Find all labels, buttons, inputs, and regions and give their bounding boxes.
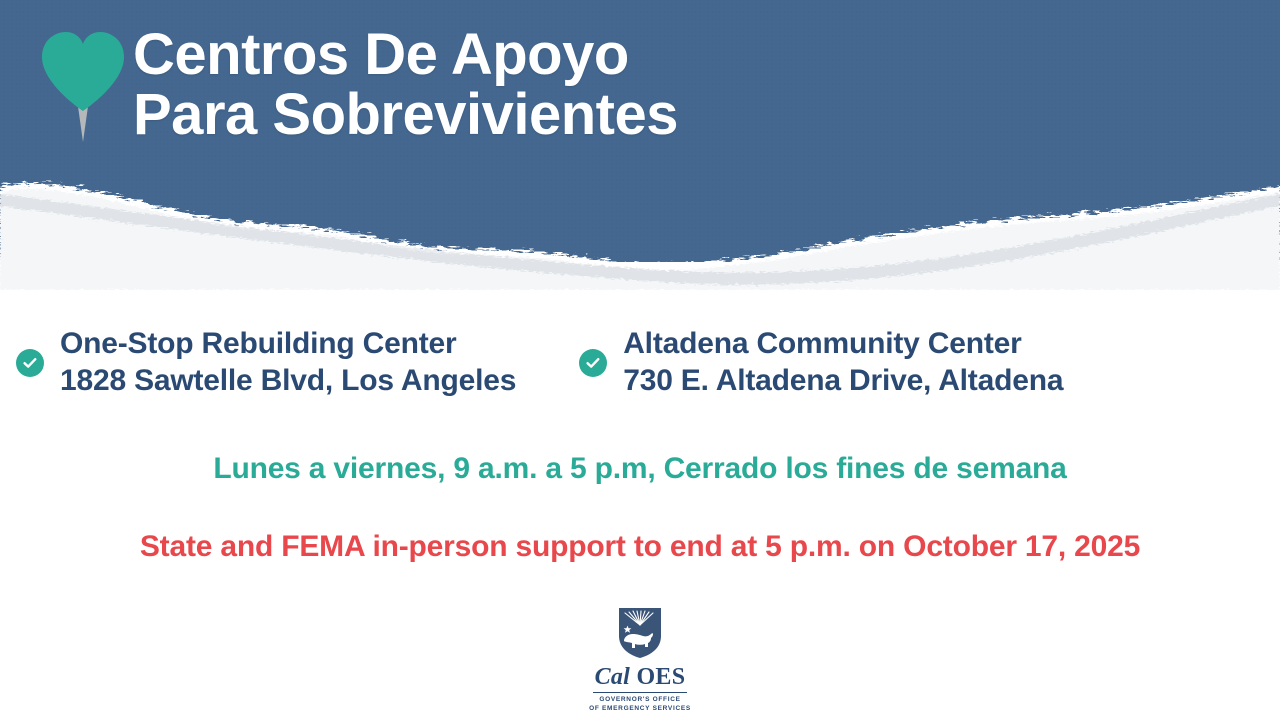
hours-text: Lunes a viernes, 9 a.m. a 5 p.m, Cerrado… [0,452,1280,486]
end-of-service-notice: State and FEMA in-person support to end … [0,530,1280,564]
subtitle-line-2: OF EMERGENCY SERVICES [589,705,691,714]
title-line-2: Para Sobrevivientes [133,85,678,145]
subtitle-line-1: GOVERNOR'S OFFICE [589,696,691,705]
location-item: One-Stop Rebuilding Center 1828 Sawtelle… [16,326,516,399]
cal-oes-logo: Cal OES GOVERNOR'S OFFICE OF EMERGENCY S… [574,606,706,713]
wordmark-oes: OES [636,664,685,690]
cal-oes-subtitle: GOVERNOR'S OFFICE OF EMERGENCY SERVICES [589,696,691,713]
poster-canvas: Centros De Apoyo Para Sobrevivientes One… [0,0,1280,722]
location-name: Altadena Community Center [623,326,1063,363]
check-circle-icon [16,349,44,377]
location-item: Altadena Community Center 730 E. Altaden… [579,326,1063,399]
heart-pin-icon [36,26,130,154]
cal-oes-shield-bear-icon [617,606,663,660]
wordmark-cal: Cal [595,664,637,690]
location-address: 1828 Sawtelle Blvd, Los Angeles [60,363,516,400]
check-circle-icon [579,349,607,377]
page-title: Centros De Apoyo Para Sobrevivientes [133,25,678,144]
location-address: 730 E. Altadena Drive, Altadena [623,363,1063,400]
title-line-1: Centros De Apoyo [133,25,678,85]
cal-oes-wordmark: Cal OES [595,665,686,689]
location-name: One-Stop Rebuilding Center [60,326,516,363]
locations-list: One-Stop Rebuilding Center 1828 Sawtelle… [0,326,1280,399]
logo-divider [593,692,687,693]
